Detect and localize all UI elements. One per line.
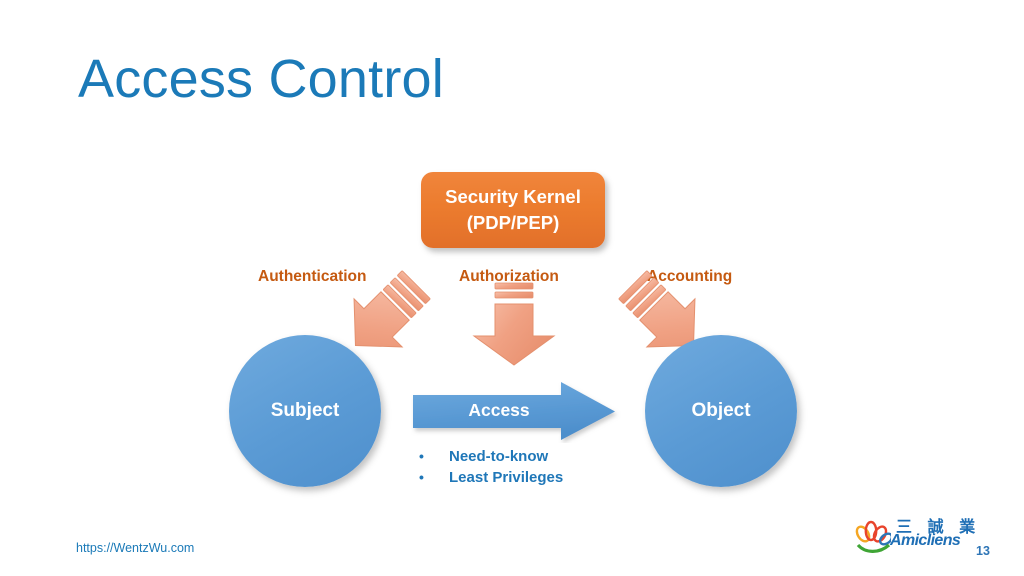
page-number: 13 — [976, 544, 990, 558]
bullet-icon: • — [419, 468, 449, 487]
page-title: Access Control — [78, 50, 444, 109]
brand-logo: 三 誠 業 Amicliens — [855, 512, 965, 560]
subject-circle: Subject — [229, 335, 381, 487]
bullet-icon: • — [419, 447, 449, 466]
list-item-label: Least Privileges — [449, 468, 563, 489]
list-item-label: Need-to-know — [449, 447, 548, 468]
object-circle: Object — [645, 335, 797, 487]
access-principles-list: • Need-to-know • Least Privileges — [419, 447, 563, 488]
security-kernel-title: Security Kernel — [445, 184, 581, 210]
down-striped-arrow-icon — [466, 281, 562, 372]
footer-url-link[interactable]: https://WentzWu.com — [76, 541, 194, 555]
security-kernel-box: Security Kernel (PDP/PEP) — [421, 172, 605, 248]
object-label: Object — [691, 400, 750, 422]
subject-label: Subject — [271, 400, 340, 422]
flower-logo-icon — [855, 518, 891, 558]
list-item: • Need-to-know — [419, 447, 563, 468]
access-arrow-icon — [411, 381, 621, 448]
list-item: • Least Privileges — [419, 468, 563, 489]
security-kernel-subtitle: (PDP/PEP) — [467, 210, 560, 236]
brand-english-name: Amicliens — [890, 532, 960, 550]
